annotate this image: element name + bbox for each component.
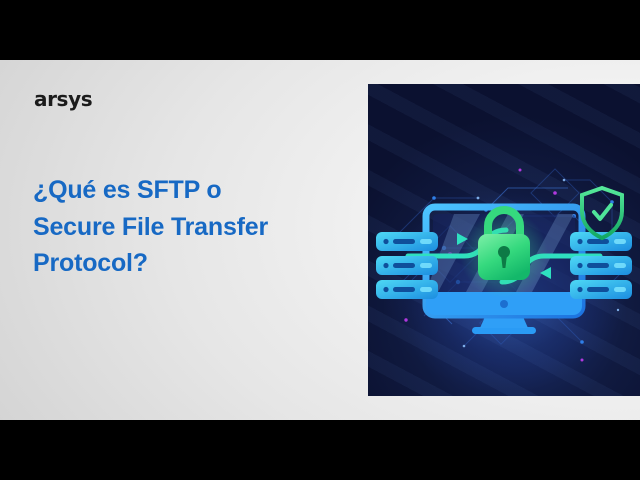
- secure-transfer-graphic: [368, 84, 640, 396]
- title-line-2: Secure File Transfer: [33, 209, 343, 246]
- database-server-stack-right: [570, 232, 632, 299]
- page-title: ¿Qué es SFTP o Secure File Transfer Prot…: [33, 172, 343, 282]
- arsys-logo: arsys: [34, 87, 92, 111]
- letterbox-bar-top: [0, 0, 640, 60]
- database-server-stack-left: [376, 232, 438, 299]
- title-line-3: Protocol?: [33, 245, 343, 282]
- title-line-1: ¿Qué es SFTP o: [33, 172, 343, 209]
- secure-padlock: [460, 210, 548, 298]
- video-frame: arsys ¿Qué es SFTP o Secure File Transfe…: [0, 0, 640, 480]
- letterbox-bar-bottom: [0, 420, 640, 480]
- security-shield-check: [582, 188, 622, 238]
- illustration-panel: [368, 84, 640, 396]
- slide-content: arsys ¿Qué es SFTP o Secure File Transfe…: [0, 60, 640, 420]
